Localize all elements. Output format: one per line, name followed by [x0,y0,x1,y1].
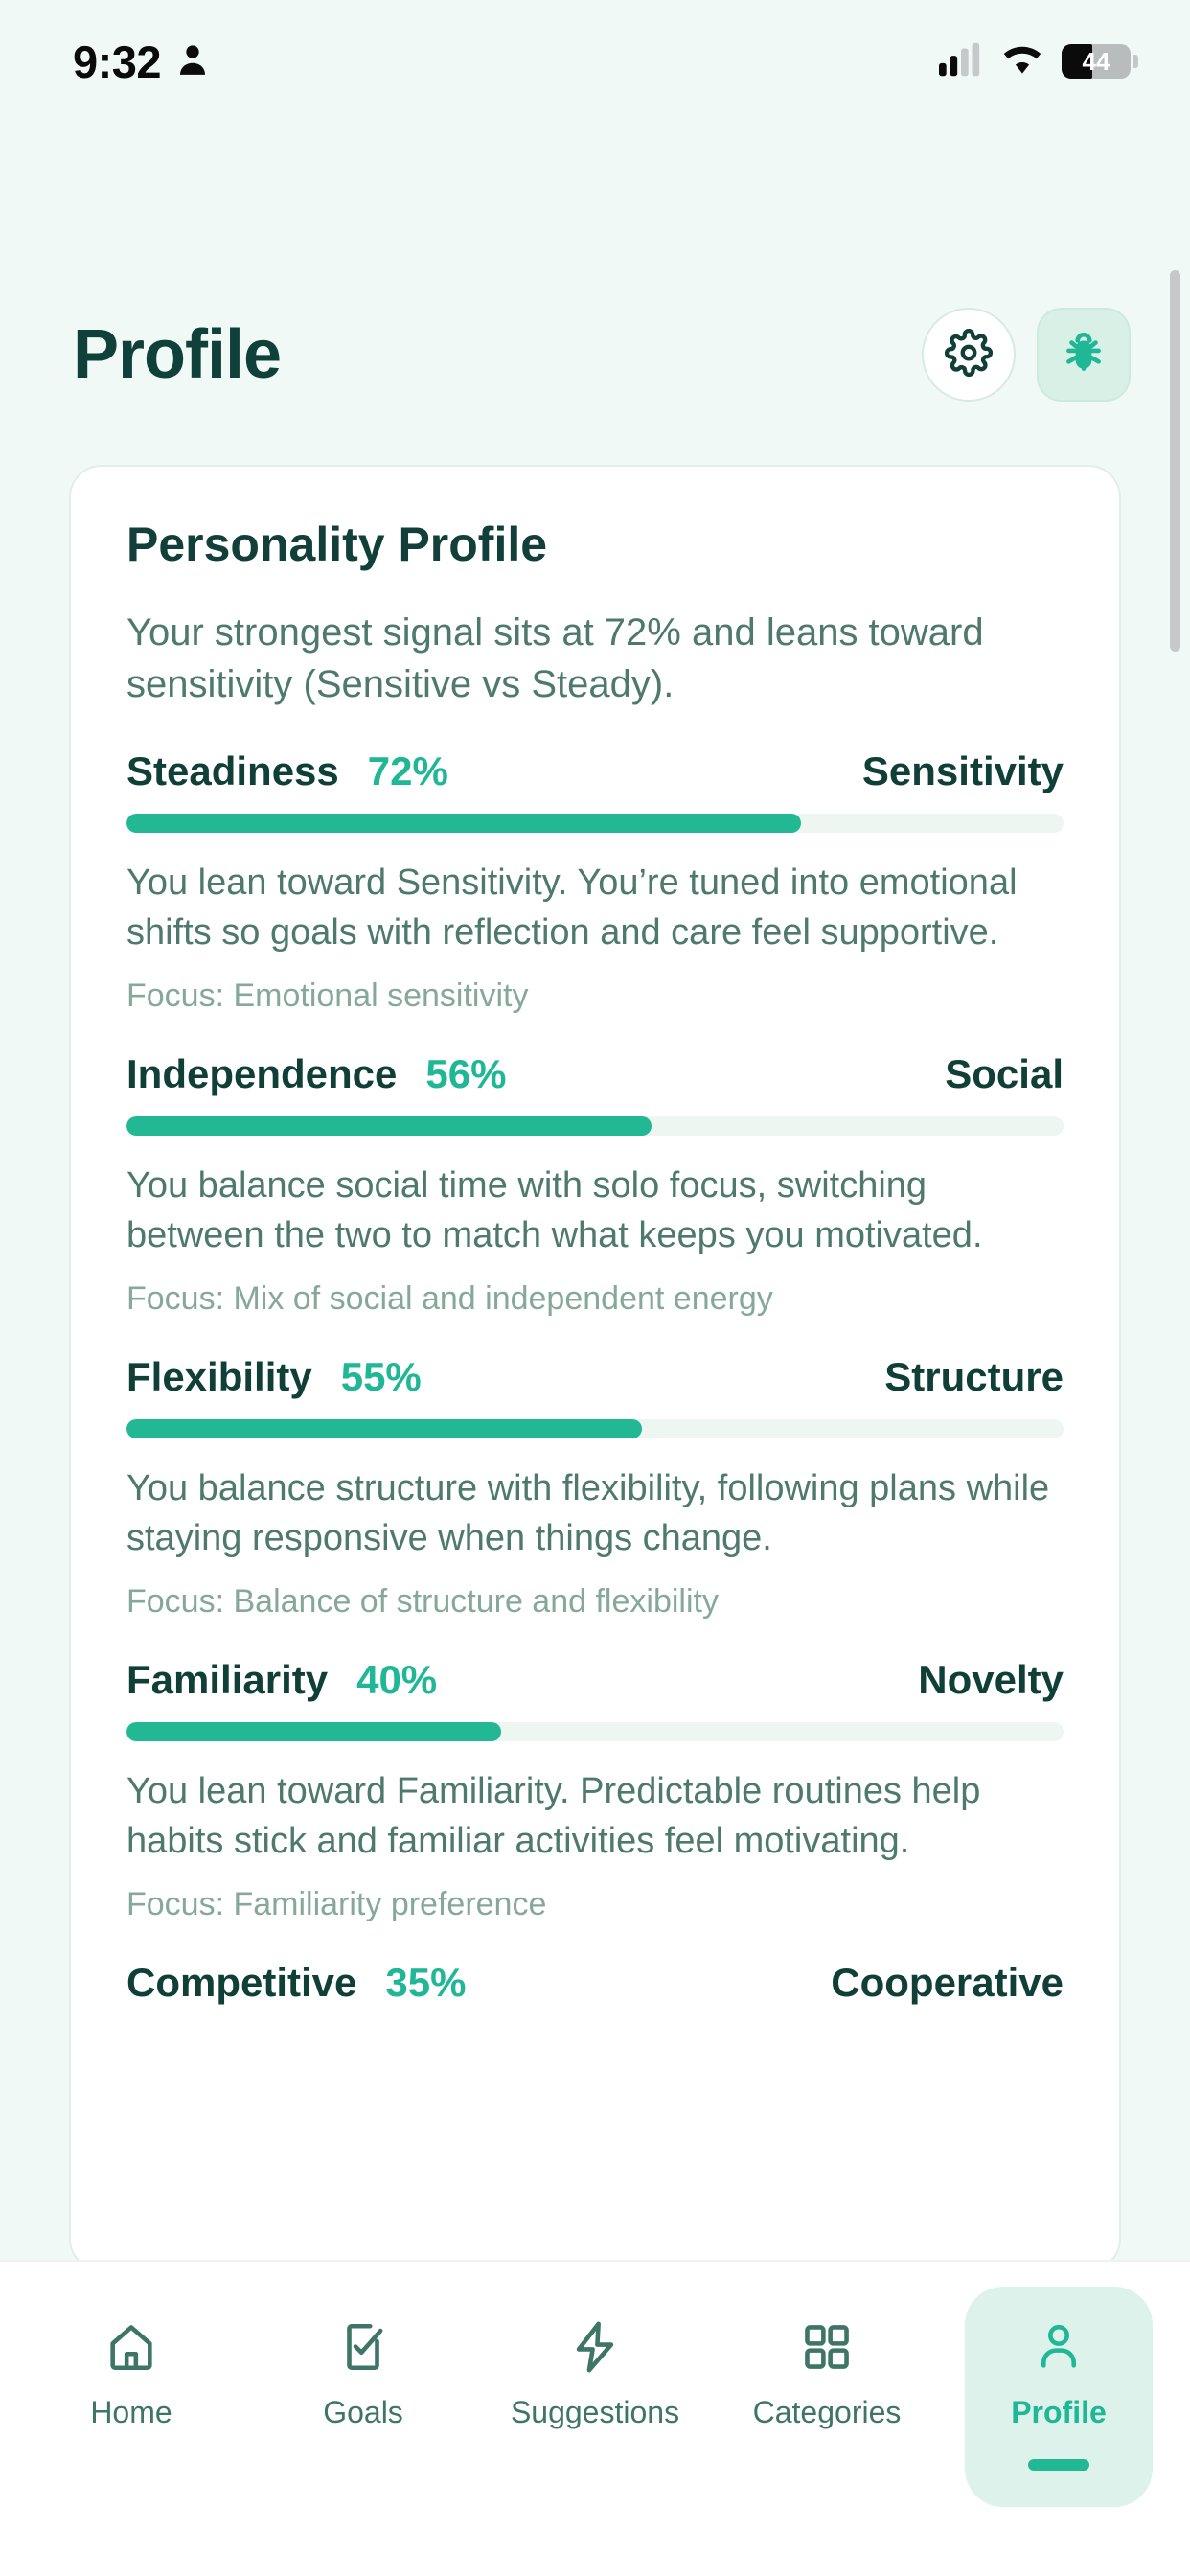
page-scrollbar[interactable] [1170,270,1180,652]
trait-progress-fill [126,1722,501,1741]
trait-row: Independence 56% Social You balance soci… [126,1051,1064,1318]
trait-header: Competitive 35% Cooperative [126,1960,1064,2006]
tab-label: Profile [1011,2395,1107,2430]
status-bar-left: 9:32 [73,35,211,88]
checklist-icon [335,2319,391,2380]
person-icon [1031,2319,1087,2380]
trait-right-label: Novelty [437,1657,1064,1703]
trait-description: You lean toward Sensitivity. You’re tune… [126,858,1064,958]
trait-row: Flexibility 55% Structure You balance st… [126,1354,1064,1621]
trait-right-label: Cooperative [466,1960,1064,2006]
trait-row: Competitive 35% Cooperative [126,1960,1064,2006]
trait-focus: Focus: Familiarity preference [126,1886,1064,1923]
trait-progress-track [126,1419,1064,1438]
bug-icon [1060,329,1108,381]
page-title: Profile [73,315,281,394]
card-summary: Your strongest signal sits at 72% and le… [126,607,1064,710]
trait-percent: 72% [368,748,448,794]
trait-description: You balance social time with solo focus,… [126,1161,1064,1261]
wifi-icon [1000,42,1044,81]
settings-button[interactable] [922,308,1016,402]
grid-icon [799,2319,855,2380]
tab-suggestions[interactable]: Suggestions [501,2287,689,2430]
gear-icon [945,329,993,381]
trait-percent: 56% [425,1051,506,1097]
trait-progress-track [126,814,1064,833]
tab-label: Goals [323,2395,403,2430]
trait-focus: Focus: Balance of structure and flexibil… [126,1583,1064,1621]
trait-header: Familiarity 40% Novelty [126,1657,1064,1703]
personality-profile-card: Personality Profile Your strongest signa… [69,465,1121,2271]
trait-focus: Focus: Emotional sensitivity [126,977,1064,1015]
lightning-icon [567,2319,623,2380]
header-actions [922,308,1131,402]
tab-profile[interactable]: Profile [965,2287,1153,2507]
tab-label: Categories [753,2395,902,2430]
status-bar: 9:32 44 [0,0,1190,123]
tab-home[interactable]: Home [37,2287,225,2430]
trait-right-label: Sensitivity [448,748,1064,794]
trait-left-label: Flexibility [126,1354,312,1400]
trait-header: Independence 56% Social [126,1051,1064,1097]
trait-left-label: Competitive [126,1960,356,2006]
active-tab-indicator [1028,2459,1089,2471]
tab-categories[interactable]: Categories [733,2287,921,2430]
debug-button[interactable] [1037,308,1131,402]
trait-row: Familiarity 40% Novelty You lean toward … [126,1657,1064,1923]
tab-label: Home [90,2395,172,2430]
trait-progress-fill [126,814,801,833]
trait-progress-track [126,1722,1064,1741]
trait-percent: 40% [356,1657,437,1703]
battery-percent-label: 44 [1062,44,1131,79]
card-title: Personality Profile [126,517,1064,572]
status-bar-right: 44 [939,42,1131,81]
trait-left-label: Steadiness [126,748,339,794]
trait-progress-fill [126,1116,652,1136]
trait-focus: Focus: Mix of social and independent ene… [126,1280,1064,1318]
page-header: Profile [0,268,1190,441]
trait-progress-track [126,1116,1064,1136]
status-bar-clock: 9:32 [73,35,161,88]
trait-description: You balance structure with flexibility, … [126,1463,1064,1564]
trait-header: Flexibility 55% Structure [126,1354,1064,1400]
trait-percent: 55% [341,1354,422,1400]
trait-description: You lean toward Familiarity. Predictable… [126,1766,1064,1867]
trait-header: Steadiness 72% Sensitivity [126,748,1064,794]
signal-bars-icon [939,42,983,81]
trait-right-label: Social [506,1051,1064,1097]
trait-row: Steadiness 72% Sensitivity You lean towa… [126,748,1064,1015]
home-icon [103,2319,159,2380]
bottom-tab-bar: Home Goals Suggestions [0,2260,1190,2576]
trait-percent: 35% [385,1960,466,2006]
phone-screen: 9:32 44 [0,0,1190,2576]
trait-left-label: Familiarity [126,1657,328,1703]
trait-left-label: Independence [126,1051,397,1097]
person-icon [174,40,211,83]
tab-goals[interactable]: Goals [269,2287,457,2430]
battery-icon: 44 [1062,44,1131,79]
trait-right-label: Structure [422,1354,1064,1400]
trait-progress-fill [126,1419,642,1438]
tab-label: Suggestions [511,2395,679,2430]
